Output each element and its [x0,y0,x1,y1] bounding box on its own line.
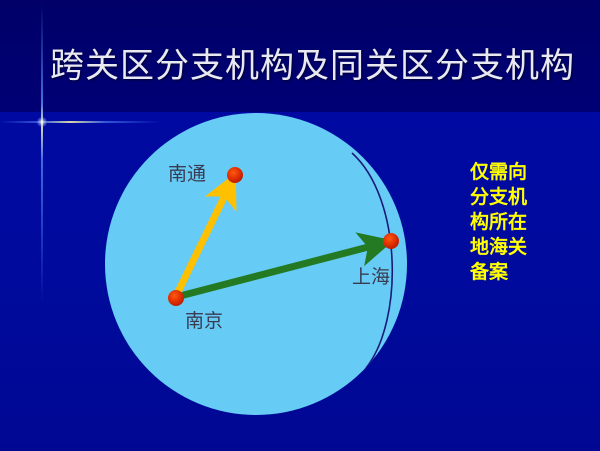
filing-requirement-note: 仅需向 分支机 构所在 地海关 备案 [470,160,580,285]
city-dot-nanjing[interactable] [168,290,184,306]
city-dot-shanghai[interactable] [383,233,399,249]
note-line-3: 构所在 [470,210,580,235]
city-label-shanghai: 上海 [352,268,390,287]
city-label-nanjing: 南京 [185,312,223,331]
presentation-slide: 跨关区分支机构及同关区分支机构 [0,0,600,451]
note-line-4: 地海关 [470,235,580,260]
city-dot-nantong[interactable] [227,167,243,183]
customs-region-circle [105,113,407,415]
city-label-nantong: 南通 [168,165,206,184]
note-line-2: 分支机 [470,185,580,210]
note-line-1: 仅需向 [470,160,580,185]
note-line-5: 备案 [470,260,580,285]
